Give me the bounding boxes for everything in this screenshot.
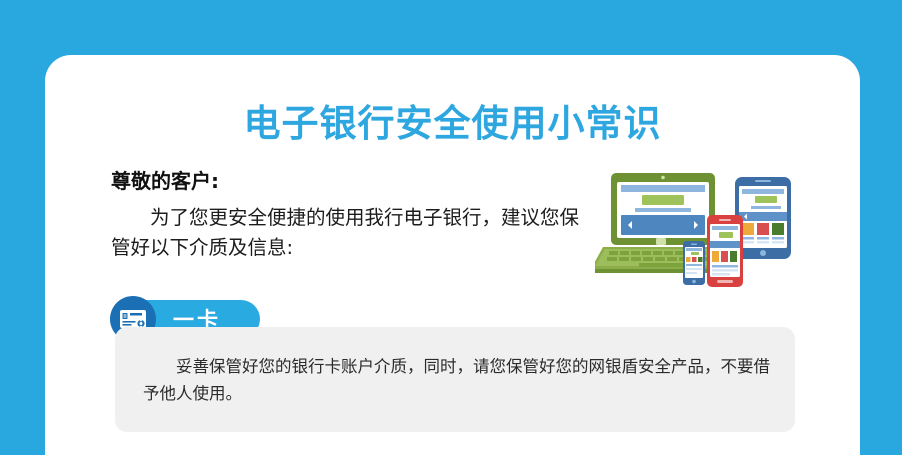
intro-body-text: 为了您更安全便捷的使用我行电子银行，建议您保管好以下介质及信息: xyxy=(111,203,581,263)
section-body-text: 妥善保管好您的银行卡账户介质，同时，请您保管好您的网银盾安全产品，不要借予他人使… xyxy=(143,353,773,407)
page-title: 电子银行安全使用小常识 xyxy=(45,93,860,147)
salutation-text: 尊敬的客户: xyxy=(111,168,581,194)
devices-svg xyxy=(595,165,815,295)
blue-phone-icon xyxy=(683,241,705,285)
section-panel: 妥善保管好您的银行卡账户介质，同时，请您保管好您的网银盾安全产品，不要借予他人使… xyxy=(115,327,795,432)
tablet-icon xyxy=(735,177,791,259)
content-card: 电子银行安全使用小常识 尊敬的客户: 为了您更安全便捷的使用我行电子银行，建议您… xyxy=(45,55,860,455)
multi-device-banking-illustration xyxy=(595,165,815,295)
infographic-page: 电子银行安全使用小常识 尊敬的客户: 为了您更安全便捷的使用我行电子银行，建议您… xyxy=(0,0,902,433)
intro-block: 尊敬的客户: 为了您更安全便捷的使用我行电子银行，建议您保管好以下介质及信息: xyxy=(111,168,581,263)
red-phone-icon xyxy=(707,215,743,287)
